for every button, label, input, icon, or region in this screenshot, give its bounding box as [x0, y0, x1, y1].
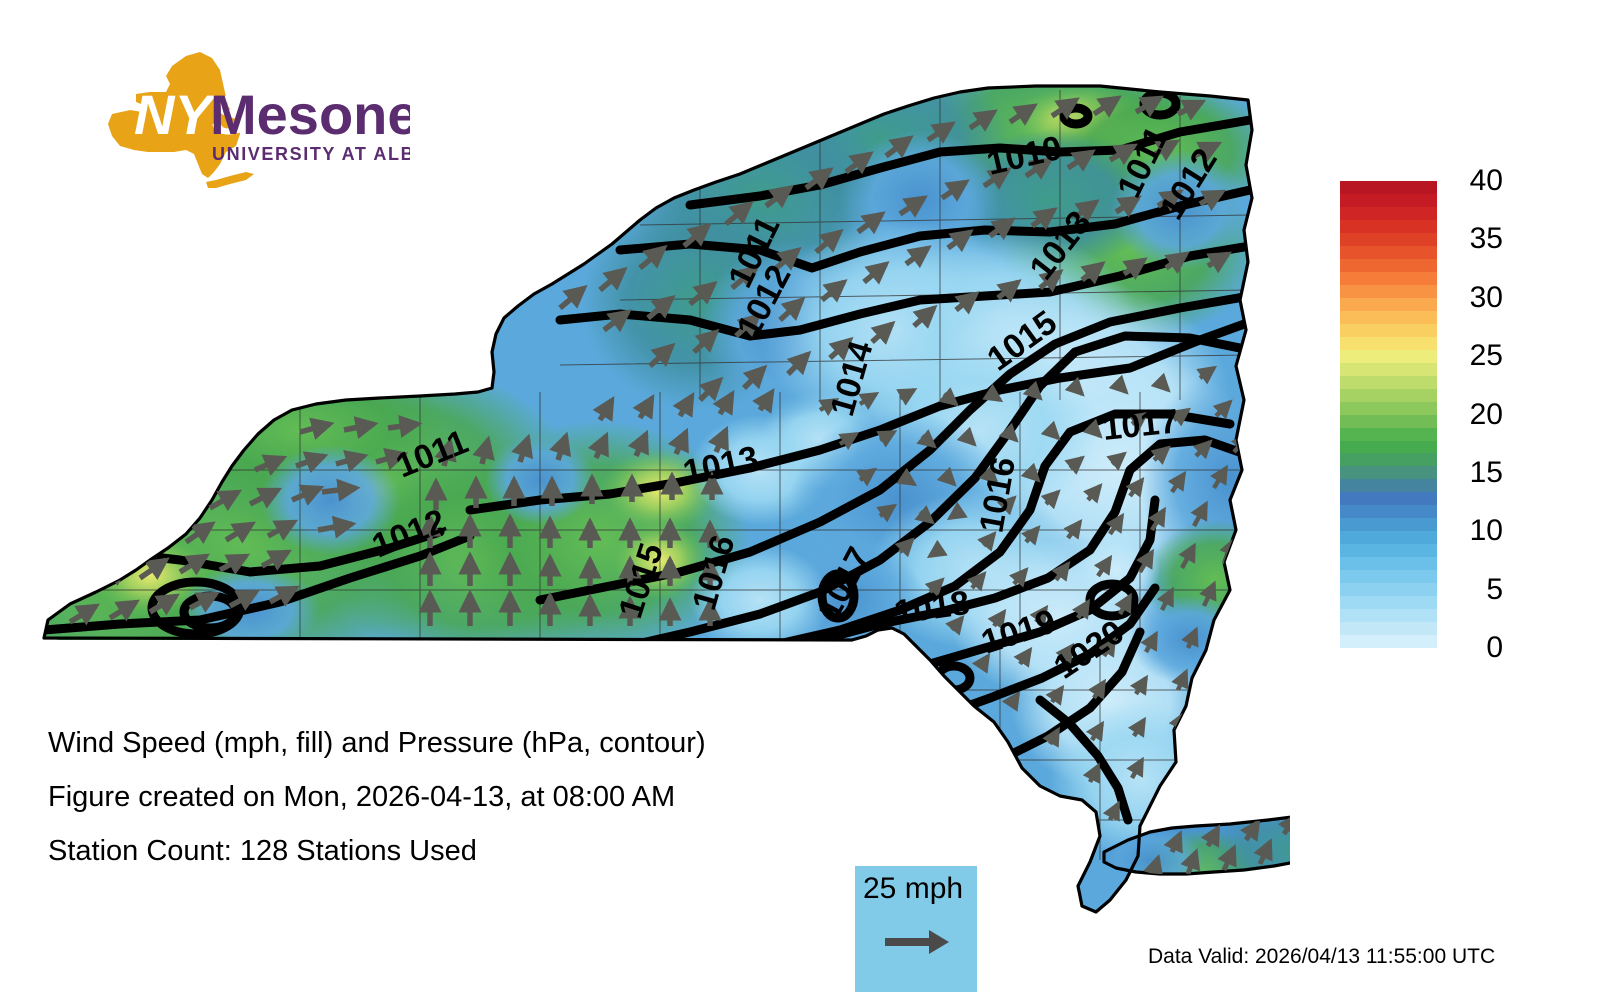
svg-text:1017: 1017 — [1101, 402, 1180, 448]
colorbar-band — [1340, 285, 1437, 298]
colorbar-band — [1340, 311, 1437, 324]
colorbar-band — [1340, 298, 1437, 311]
colorbar-band — [1340, 181, 1437, 194]
colorbar-band — [1340, 609, 1437, 622]
colorbar-tick-label: 20 — [1445, 400, 1503, 430]
caption-station-count: Station Count: 128 Stations Used — [48, 824, 868, 878]
colorbar-band — [1340, 531, 1437, 544]
data-valid-timestamp: Data Valid: 2026/04/13 11:55:00 UTC — [1148, 944, 1495, 970]
colorbar-band — [1340, 194, 1437, 207]
colorbar-band — [1340, 246, 1437, 259]
colorbar-tick-label: 35 — [1445, 224, 1503, 254]
colorbar-tick-label: 30 — [1445, 283, 1503, 313]
colorbar-tick-label: 10 — [1445, 516, 1503, 546]
colorbar-tick-label: 40 — [1445, 166, 1503, 196]
colorbar-band — [1340, 441, 1437, 454]
figure-caption: Wind Speed (mph, fill) and Pressure (hPa… — [48, 716, 868, 878]
colorbar-band — [1340, 505, 1437, 518]
wind-speed-colorbar — [1340, 181, 1437, 648]
colorbar-band — [1340, 557, 1437, 570]
colorbar-band — [1340, 635, 1437, 648]
colorbar-band — [1340, 402, 1437, 415]
colorbar-band — [1340, 363, 1437, 376]
colorbar-band — [1340, 207, 1437, 220]
caption-created: Figure created on Mon, 2026-04-13, at 08… — [48, 770, 868, 824]
colorbar-band — [1340, 492, 1437, 505]
colorbar-band — [1340, 466, 1437, 479]
colorbar-group: 4035302520151050 — [1340, 181, 1590, 651]
colorbar-band — [1340, 220, 1437, 233]
colorbar-band — [1340, 415, 1437, 428]
colorbar-band — [1340, 428, 1437, 441]
colorbar-band — [1340, 324, 1437, 337]
colorbar-band — [1340, 570, 1437, 583]
wind-legend-label: 25 mph — [863, 868, 963, 910]
colorbar-band — [1340, 583, 1437, 596]
colorbar-band — [1340, 272, 1437, 285]
wind-speed-legend: 25 mph — [855, 866, 977, 992]
colorbar-tick-label: 0 — [1445, 633, 1503, 663]
colorbar-band — [1340, 479, 1437, 492]
colorbar-tick-label: 5 — [1445, 575, 1503, 605]
colorbar-band — [1340, 622, 1437, 635]
colorbar-tick-label: 25 — [1445, 341, 1503, 371]
colorbar-band — [1340, 389, 1437, 402]
colorbar-band — [1340, 259, 1437, 272]
caption-title: Wind Speed (mph, fill) and Pressure (hPa… — [48, 716, 868, 770]
colorbar-band — [1340, 350, 1437, 363]
colorbar-band — [1340, 337, 1437, 350]
colorbar-band — [1340, 596, 1437, 609]
colorbar-band — [1340, 453, 1437, 466]
colorbar-band — [1340, 233, 1437, 246]
colorbar-band — [1340, 544, 1437, 557]
colorbar-tick-labels: 4035302520151050 — [1445, 181, 1565, 648]
colorbar-tick-label: 15 — [1445, 458, 1503, 488]
colorbar-band — [1340, 518, 1437, 531]
colorbar-band — [1340, 376, 1437, 389]
right-arrow-icon — [885, 928, 951, 961]
